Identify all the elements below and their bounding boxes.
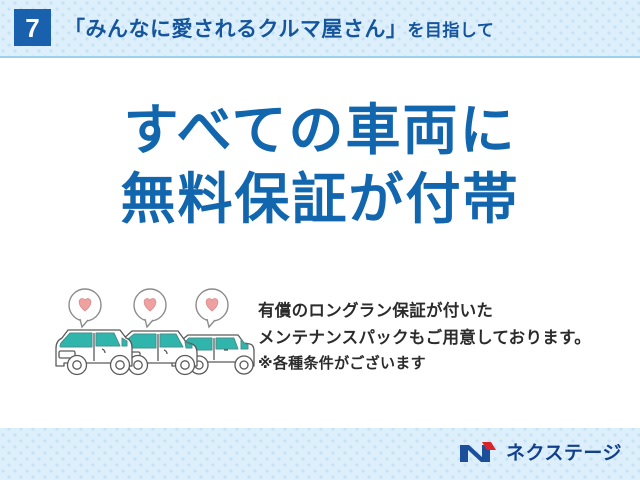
footer: ネクステージ — [0, 428, 640, 480]
header: 7 「みんなに愛されるクルマ屋さん」を目指して — [0, 0, 640, 57]
section-number-badge: 7 — [14, 9, 51, 46]
headline-line-1: すべての車両に — [124, 98, 517, 162]
brand-logo: ネクステージ — [458, 438, 622, 465]
body-line-2: メンテナンスパックもご用意しております。 — [258, 325, 630, 352]
page-title-quoted: 「みんなに愛されるクルマ屋さん」 — [64, 17, 407, 41]
content-card: すべての車両に 無料保証が付帯 — [0, 58, 640, 428]
header-inner: 7 「みんなに愛されるクルマ屋さん」を目指して — [14, 9, 494, 46]
body-note: ※各種条件がございます — [258, 351, 630, 375]
car-van — [56, 330, 132, 375]
nexstage-n-logo-icon — [458, 439, 498, 465]
lower-section: 有償のロングラン保証が付いた メンテナンスパックもご用意しております。 ※各種条… — [0, 286, 640, 416]
body-line-1: 有償のロングラン保証が付いた — [258, 298, 630, 325]
poster-root: 7 「みんなに愛されるクルマ屋さん」を目指して すべての車両に 無料保証が付帯 — [0, 0, 640, 480]
page-title: 「みんなに愛されるクルマ屋さん」を目指して — [64, 13, 494, 43]
headline-line-2: 無料保証が付帯 — [0, 167, 640, 232]
page-title-suffix: を目指して — [407, 21, 494, 41]
headline: すべての車両に 無料保証が付帯 — [0, 98, 640, 232]
car-illustration — [52, 286, 257, 391]
body-copy: 有償のロングラン保証が付いた メンテナンスパックもご用意しております。 ※各種条… — [258, 298, 630, 376]
brand-name: ネクステージ — [506, 438, 622, 465]
cars-and-hearts-svg — [52, 286, 257, 391]
